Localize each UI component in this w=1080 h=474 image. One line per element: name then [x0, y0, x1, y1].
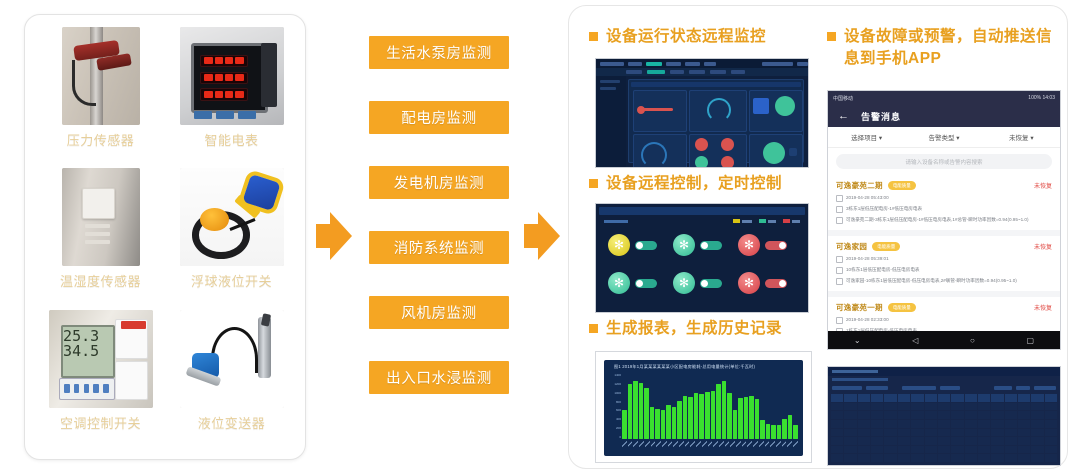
chart-x-tick	[702, 439, 707, 449]
table-cell	[844, 420, 856, 428]
chart-bar	[688, 397, 693, 439]
chart-bar	[760, 420, 765, 440]
chart-bar	[705, 392, 710, 439]
table-cell	[831, 411, 843, 419]
circle-home-icon[interactable]: ○	[970, 336, 975, 345]
chart-x-tick	[690, 439, 695, 449]
chart-x-tick	[765, 439, 770, 449]
chart-bar	[683, 396, 688, 439]
table-header-cell	[965, 394, 977, 402]
chart-x-tick	[628, 439, 633, 449]
fan-toggle[interactable]	[635, 241, 657, 250]
chart-x-tick	[645, 439, 650, 449]
filter-status[interactable]: 未恢复 ▾	[983, 132, 1060, 142]
table-cell	[831, 437, 843, 445]
device-grid: 压力传感器 智能电表	[35, 27, 297, 451]
chart-x-tick	[753, 439, 758, 449]
alarm-list-item[interactable]: 可逸家园 电能质量 未恢复 2019-04-28 05:39:01 10栋东1层…	[828, 236, 1060, 297]
table-cell	[1045, 420, 1057, 428]
phone-status-bar: 中国移动 100% 14:03	[828, 91, 1060, 105]
clock-icon	[836, 195, 843, 202]
fan-icon: ✻	[608, 272, 630, 294]
fan-toggle[interactable]	[700, 241, 722, 250]
fan-unit-1[interactable]: ✻	[608, 234, 657, 256]
clock-icon	[836, 317, 843, 324]
table-header-cell	[898, 394, 910, 402]
arrow-right-icon	[524, 212, 558, 260]
chart-bar	[727, 393, 732, 439]
table-cell	[1045, 454, 1057, 462]
chart-x-tick	[673, 439, 678, 449]
alarm-time: 2019-04-28 02:33:00	[846, 317, 889, 323]
chart-x-tick	[730, 439, 735, 449]
chart-x-tick	[696, 439, 701, 449]
table-cell	[898, 429, 910, 437]
arrow-right-icon	[316, 212, 350, 260]
table-cell	[938, 429, 950, 437]
table-cell	[1031, 429, 1043, 437]
fan-icon: ✻	[608, 234, 630, 256]
table-cell	[951, 454, 963, 462]
device-card-ac-control-switch: 25.334.5 空调控制开关	[35, 310, 166, 451]
table-cell	[884, 429, 896, 437]
table-cell	[978, 446, 990, 454]
feature-heading-alarm-push: 设备故障或预警，自动推送信息到手机APP	[827, 26, 1059, 71]
device-label: 智能电表	[204, 130, 258, 149]
device-card-smart-meter: 智能电表	[166, 27, 297, 168]
fan-icon: ✻	[738, 234, 760, 256]
table-cell	[951, 420, 963, 428]
chart-bar	[722, 381, 727, 440]
table-cell	[965, 411, 977, 419]
chart-bar	[672, 407, 677, 440]
chart-x-tick	[770, 439, 775, 449]
chart-x-tick	[651, 439, 656, 449]
table-cell	[978, 429, 990, 437]
chart-title: 图1 2019年1月某某某某某某小区配电房能耗-总用电量统计(单位:千瓦时)	[614, 364, 755, 370]
table-cell	[925, 403, 937, 411]
search-placeholder: 请输入设备名称或告警内容搜索	[905, 158, 982, 166]
table-cell	[844, 454, 856, 462]
table-grid	[831, 394, 1057, 462]
table-cell	[978, 420, 990, 428]
chart-bar	[733, 410, 738, 439]
table-cell	[858, 446, 870, 454]
dashboard-navbar	[596, 59, 808, 68]
fan-unit-6[interactable]: ✻	[738, 272, 787, 294]
feature-heading-text: 生成报表，生成历史记录	[606, 318, 782, 340]
alarm-filter-bar: 选择项目 ▾ 告警类型 ▾ 未恢复 ▾	[828, 127, 1060, 148]
table-header-cell	[991, 394, 1003, 402]
chart-x-tick	[622, 439, 627, 449]
table-header-cell	[871, 394, 883, 402]
table-cell	[951, 437, 963, 445]
control-panel-titlebar	[599, 207, 805, 215]
table-cell	[965, 403, 977, 411]
chart-bar	[650, 407, 655, 440]
table-cell	[858, 454, 870, 462]
table-cell	[871, 437, 883, 445]
filter-project[interactable]: 选择项目 ▾	[828, 132, 905, 142]
table-cell	[898, 446, 910, 454]
table-cell	[831, 446, 843, 454]
chart-x-tick	[679, 439, 684, 449]
table-cell	[1045, 411, 1057, 419]
table-cell	[1045, 437, 1057, 445]
fan-unit-5[interactable]: ✻	[673, 272, 722, 294]
table-cell	[1005, 437, 1017, 445]
table-cell	[884, 420, 896, 428]
chart-bar	[755, 399, 760, 439]
fan-unit-4[interactable]: ✻	[608, 272, 657, 294]
phone-content: 选择项目 ▾ 告警类型 ▾ 未恢复 ▾ 请输入设备名称或告警内容搜索 可逸豪苑二…	[828, 127, 1060, 331]
table-header-cell	[978, 394, 990, 402]
scenario-button-entrance-flood[interactable]: 出入口水浸监测	[369, 361, 509, 394]
chart-bar	[738, 398, 743, 439]
table-cell	[884, 454, 896, 462]
detail-icon	[836, 278, 843, 285]
table-cell	[1018, 429, 1030, 437]
table-cell	[991, 437, 1003, 445]
table-cell	[898, 454, 910, 462]
dashboard-sidebar	[596, 76, 626, 167]
scenario-button-generator-room[interactable]: 发电机房监测	[369, 166, 509, 199]
table-row	[831, 403, 1057, 411]
device-card-float-level-switch: 浮球液位开关	[166, 168, 297, 309]
fan-toggle[interactable]	[635, 279, 657, 288]
table-cell	[938, 420, 950, 428]
table-cell	[1018, 446, 1030, 454]
temp-humidity-sensor-photo	[62, 168, 140, 266]
chart-bar	[716, 384, 721, 439]
table-cell	[911, 437, 923, 445]
table-cell	[1031, 411, 1043, 419]
table-cell	[1045, 403, 1057, 411]
table-cell	[1018, 411, 1030, 419]
chart-bar	[749, 396, 754, 439]
table-cell	[1031, 454, 1043, 462]
table-app-header	[828, 367, 1060, 376]
chart-x-tick	[793, 439, 798, 449]
table-row	[831, 411, 1057, 419]
table-header-row	[831, 394, 1057, 402]
table-cell	[831, 454, 843, 462]
chart-bar	[777, 425, 782, 439]
scenario-button-fire-system[interactable]: 消防系统监测	[369, 231, 509, 264]
table-cell	[884, 411, 896, 419]
feature-heading-remote-monitoring: 设备运行状态远程监控	[589, 26, 819, 48]
chart-y-tick: 0	[607, 435, 621, 439]
feature-heading-remote-control: 设备远程控制，定时控制	[589, 173, 827, 195]
scenario-button-distribution-room[interactable]: 配电房监测	[369, 101, 509, 134]
bullet-square-icon	[589, 32, 598, 41]
chart-bar	[639, 383, 644, 439]
table-cell	[871, 454, 883, 462]
alarm-search-input[interactable]: 请输入设备名称或告警内容搜索	[836, 154, 1052, 169]
monitoring-scenario-list: 生活水泵房监测 配电房监测 发电机房监测 消防系统监测 风机房监测 出入口水浸监…	[369, 36, 509, 426]
chart-bar	[711, 391, 716, 439]
alarm-device: 3栋东1层低压配电房-1#低压电房电表	[846, 206, 922, 212]
chart-x-tick	[725, 439, 730, 449]
table-cell	[1018, 454, 1030, 462]
table-cell	[871, 411, 883, 419]
chart-x-tick	[742, 439, 747, 449]
chart-x-tick	[713, 439, 718, 449]
alarm-project: 可逸家园	[836, 241, 867, 252]
alarm-project: 可逸豪苑二期	[836, 180, 883, 191]
table-cell	[951, 403, 963, 411]
table-cell	[858, 429, 870, 437]
back-arrow-icon[interactable]: ←	[838, 111, 849, 122]
table-header-cell	[1045, 394, 1057, 402]
table-cell	[1018, 420, 1030, 428]
fan-icon: ✻	[738, 272, 760, 294]
table-cell	[844, 446, 856, 454]
phone-app-bar: ← 告警消息	[828, 105, 1060, 127]
table-cell	[978, 411, 990, 419]
table-cell	[965, 454, 977, 462]
feature-heading-text: 设备故障或预警，自动推送信息到手机APP	[844, 26, 1059, 71]
table-cell	[871, 429, 883, 437]
table-cell	[831, 420, 843, 428]
chart-x-axis	[622, 439, 798, 453]
float-level-switch-photo	[180, 168, 284, 266]
alarm-status: 未恢复	[1034, 242, 1052, 251]
chart-y-tick: 1000	[607, 391, 621, 395]
table-cell	[844, 429, 856, 437]
bar-chart: 图1 2019年1月某某某某某某小区配电房能耗-总用电量统计(单位:千瓦时) 1…	[604, 360, 803, 456]
table-header-cell	[911, 394, 923, 402]
chart-bar	[699, 394, 704, 440]
table-cell	[991, 446, 1003, 454]
clock-icon	[836, 256, 843, 263]
table-cell	[978, 454, 990, 462]
table-cell	[1031, 420, 1043, 428]
table-cell	[925, 420, 937, 428]
table-header-cell	[858, 394, 870, 402]
chart-x-tick	[662, 439, 667, 449]
table-cell	[898, 403, 910, 411]
table-cell	[911, 403, 923, 411]
table-header-cell	[831, 394, 843, 402]
fan-toggle[interactable]	[700, 279, 722, 288]
table-cell	[925, 411, 937, 419]
bullet-square-icon	[589, 324, 598, 333]
chart-bar	[782, 419, 787, 439]
fan-control-screenshot: ✻ ✻ ✻ ✻ ✻	[595, 203, 809, 313]
table-cell	[1005, 429, 1017, 437]
table-cell	[978, 437, 990, 445]
chart-x-tick	[747, 439, 752, 449]
chart-x-tick	[759, 439, 764, 449]
table-cell	[925, 437, 937, 445]
table-cell	[871, 403, 883, 411]
table-cell	[938, 411, 950, 419]
chart-x-tick	[639, 439, 644, 449]
filter-alarm-type[interactable]: 告警类型 ▾	[905, 132, 982, 142]
table-cell	[1018, 403, 1030, 411]
bullet-square-icon	[589, 179, 598, 188]
fan-toggle[interactable]	[765, 279, 787, 288]
table-cell	[858, 437, 870, 445]
scada-monitor-screenshot	[595, 58, 809, 168]
table-cell	[1005, 454, 1017, 462]
alarm-push-phone-screenshot: 中国移动 100% 14:03 ← 告警消息 选择项目 ▾ 告警类型 ▾ 未恢复…	[827, 90, 1061, 350]
alarm-detail: 可逸家园-10栋东1层低压配电房-低压电房电表,2#联管-瞬时功率因数=0.94…	[846, 278, 1017, 284]
table-cell	[1031, 403, 1043, 411]
alarm-device: 10栋东1层低压配电房-低压电房电表	[846, 267, 920, 273]
table-cell	[844, 403, 856, 411]
chart-bar	[793, 425, 798, 439]
table-toolbar	[832, 385, 1056, 391]
chart-y-tick: 600	[607, 408, 621, 412]
scenario-button-water-pump-room[interactable]: 生活水泵房监测	[369, 36, 509, 69]
ac-control-switch-photo: 25.334.5	[49, 310, 153, 408]
pressure-sensor-photo	[62, 27, 140, 125]
table-cell	[1005, 420, 1017, 428]
chart-x-tick	[708, 439, 713, 449]
phone-page-title: 告警消息	[861, 110, 901, 123]
chart-bar	[694, 393, 699, 439]
alarm-time: 2019-04-28 05:43:00	[846, 195, 889, 201]
fan-toggle[interactable]	[765, 241, 787, 250]
report-chart-screenshot: 图1 2019年1月某某某某某某小区配电房能耗-总用电量统计(单位:千瓦时) 1…	[595, 351, 812, 463]
table-cell	[911, 411, 923, 419]
table-cell	[978, 403, 990, 411]
table-cell	[858, 420, 870, 428]
chart-bar	[628, 384, 633, 439]
chart-bar	[766, 424, 771, 439]
alarm-time: 2019-04-28 05:39:01	[846, 256, 889, 262]
level-transmitter-photo	[180, 310, 284, 408]
alarm-project: 可逸豪苑一期	[836, 302, 883, 313]
chart-bar	[633, 381, 638, 439]
table-cell	[991, 454, 1003, 462]
table-cell	[1031, 446, 1043, 454]
fan-row-1: ✻ ✻ ✻	[608, 234, 787, 256]
chart-y-tick: 200	[607, 426, 621, 430]
smart-meter-photo	[180, 27, 284, 125]
table-cell	[884, 403, 896, 411]
table-cell	[951, 429, 963, 437]
table-row	[831, 454, 1057, 462]
table-row	[831, 437, 1057, 445]
table-cell	[871, 420, 883, 428]
chart-x-tick	[656, 439, 661, 449]
bullet-square-icon	[827, 32, 836, 41]
square-recent-icon[interactable]: ▢	[1027, 336, 1035, 345]
table-cell	[1005, 403, 1017, 411]
table-cell	[991, 403, 1003, 411]
device-card-level-transmitter: 液位变送器	[166, 310, 297, 451]
alarm-status: 未恢复	[1034, 303, 1052, 312]
table-cell	[898, 420, 910, 428]
device-label: 液位变送器	[198, 413, 266, 432]
chart-bar	[666, 405, 671, 439]
alarm-list-item[interactable]: 可逸豪苑二期 电能质量 未恢复 2019-04-28 05:43:00 3栋东1…	[828, 175, 1060, 236]
chevron-down-icon[interactable]: ⌄	[854, 336, 861, 345]
chart-y-tick: 800	[607, 400, 621, 404]
alarm-status: 未恢复	[1034, 181, 1052, 190]
feature-heading-text: 设备远程控制，定时控制	[606, 173, 782, 195]
chart-bar	[788, 415, 793, 439]
scenario-button-fan-room[interactable]: 风机房监测	[369, 296, 509, 329]
fan-status-legend	[733, 219, 800, 223]
chart-x-tick	[633, 439, 638, 449]
feature-heading-reports: 生成报表，生成历史记录	[589, 318, 827, 340]
table-cell	[991, 411, 1003, 419]
fan-row-2: ✻ ✻ ✻	[608, 272, 787, 294]
table-cell	[884, 437, 896, 445]
alarm-list-item[interactable]: 可逸豪苑一期 电能质量 未恢复 2019-04-28 02:33:00 1栋东1…	[828, 297, 1060, 331]
table-cell	[965, 437, 977, 445]
table-cell	[898, 437, 910, 445]
device-card-temp-humidity-sensor: 温湿度传感器	[35, 168, 166, 309]
table-header-cell	[1031, 394, 1043, 402]
table-header-cell	[1005, 394, 1017, 402]
table-cell	[831, 403, 843, 411]
table-cell	[911, 446, 923, 454]
chart-bar	[677, 401, 682, 439]
chart-x-tick	[787, 439, 792, 449]
table-cell	[938, 437, 950, 445]
table-cell	[831, 429, 843, 437]
chart-x-tick	[668, 439, 673, 449]
device-icon	[836, 206, 843, 213]
device-gallery-panel: 压力传感器 智能电表	[24, 14, 306, 460]
chart-x-tick	[782, 439, 787, 449]
triangle-back-icon[interactable]: ◁	[912, 336, 918, 345]
table-cell	[1005, 411, 1017, 419]
fan-icon: ✻	[673, 234, 695, 256]
infographic-canvas: 压力传感器 智能电表	[0, 0, 1080, 474]
chart-bar	[655, 409, 660, 439]
alarm-badge: 电能质量	[888, 181, 916, 190]
report-table-screenshot	[827, 366, 1061, 466]
table-breadcrumb	[832, 378, 888, 381]
device-card-pressure-sensor: 压力传感器	[35, 27, 166, 168]
table-header-cell	[951, 394, 963, 402]
platform-features-panel: 设备运行状态远程监控 设备故障或预警，自动推送信息到手机APP 设备远程控制，定…	[568, 5, 1068, 469]
table-row	[831, 429, 1057, 437]
chart-bar	[622, 410, 627, 439]
table-cell	[911, 429, 923, 437]
table-cell	[898, 411, 910, 419]
table-cell	[938, 446, 950, 454]
fan-icon: ✻	[673, 272, 695, 294]
alarm-badge: 电能质量	[872, 242, 900, 251]
table-cell	[925, 446, 937, 454]
chart-bars	[622, 374, 798, 439]
table-cell	[911, 420, 923, 428]
table-cell	[965, 420, 977, 428]
device-label: 浮球液位开关	[191, 271, 272, 290]
chart-x-tick	[685, 439, 690, 449]
fan-unit-3[interactable]: ✻	[738, 234, 787, 256]
chart-x-tick	[736, 439, 741, 449]
table-header-cell	[884, 394, 896, 402]
table-cell	[871, 446, 883, 454]
table-cell	[1005, 446, 1017, 454]
table-cell	[844, 411, 856, 419]
dashboard-subnav	[596, 68, 808, 76]
table-row	[831, 446, 1057, 454]
table-cell	[1031, 437, 1043, 445]
device-label: 温湿度传感器	[60, 271, 141, 290]
fan-unit-2[interactable]: ✻	[673, 234, 722, 256]
detail-icon	[836, 217, 843, 224]
dashboard-content	[628, 79, 804, 163]
